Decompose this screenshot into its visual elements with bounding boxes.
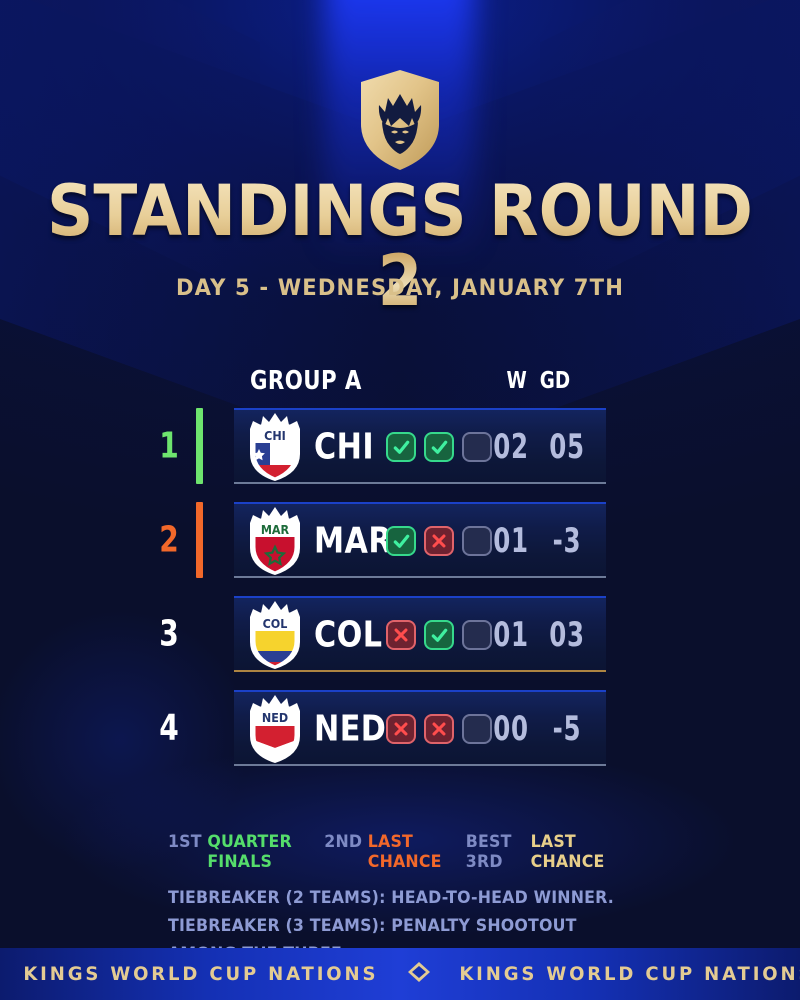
stat-wins: 01 [492, 615, 531, 655]
result-loss-icon [386, 714, 416, 744]
match-results [386, 620, 492, 650]
page: STANDINGS ROUND 2 DAY 5 - WEDNESDAY, JAN… [0, 0, 800, 1000]
rank-number: 3 [159, 614, 179, 655]
table-header: GROUP A W GD [186, 366, 606, 400]
column-header-wins: W [507, 368, 527, 394]
banner-track: KINGS WORLD CUP NATIONSKINGS WORLD CUP N… [0, 961, 800, 988]
legend-first-place: 1ST QUARTER FINALS [168, 832, 300, 872]
match-results [386, 714, 492, 744]
rank-number: 1 [159, 426, 179, 467]
legend-first-key: 1ST [168, 832, 202, 852]
legend-second-value: LAST CHANCE [368, 832, 442, 872]
row-body: MARMAR01-3 [234, 502, 606, 578]
legend-second-place: 2ND LAST CHANCE [324, 832, 441, 872]
rank-accent-bar [196, 408, 203, 484]
rank-number: 2 [159, 520, 179, 561]
row-body: CHICHI0205 [234, 408, 606, 484]
legend-second-key: 2ND [324, 832, 362, 852]
stat-goal-difference: -5 [545, 709, 590, 749]
rank-accent-bar [196, 502, 203, 578]
row-body: NEDNED00-5 [234, 690, 606, 766]
table-row[interactable]: 1CHICHI0205 [186, 408, 606, 484]
match-results [386, 432, 492, 462]
result-loss-icon [386, 620, 416, 650]
team-code: CHI [314, 427, 374, 468]
rank-number: 4 [159, 708, 179, 749]
legend-qualification-row: 1ST QUARTER FINALS 2ND LAST CHANCE BEST … [168, 832, 614, 872]
kings-crest-icon [357, 68, 443, 172]
stat-wins: 02 [492, 427, 531, 467]
result-empty-slot [462, 432, 492, 462]
team-code: COL [314, 615, 382, 656]
stat-wins: 01 [492, 521, 531, 561]
result-empty-slot [462, 620, 492, 650]
column-header-goal-difference: GD [540, 368, 570, 394]
stat-goal-difference: -3 [545, 521, 590, 561]
svg-text:NED: NED [262, 711, 288, 725]
row-body: COLCOL0103 [234, 596, 606, 672]
result-empty-slot [462, 714, 492, 744]
netherlands-crest-icon: NED [248, 695, 302, 763]
match-results [386, 526, 492, 556]
result-empty-slot [462, 526, 492, 556]
result-win-icon [424, 432, 454, 462]
result-win-icon [386, 432, 416, 462]
tiebreaker-two-teams: TIEBREAKER (2 TEAMS): HEAD-TO-HEAD WINNE… [168, 884, 614, 912]
page-subtitle: DAY 5 - WEDNESDAY, JANUARY 7TH [16, 276, 784, 301]
table-row[interactable]: 3COLCOL0103 [186, 596, 606, 672]
chile-crest-icon: CHI [248, 413, 302, 481]
stat-wins: 00 [492, 709, 531, 749]
banner-text: KINGS WORLD CUP NATIONS [23, 963, 378, 985]
table-row[interactable]: 4NEDNED00-5 [186, 690, 606, 766]
legend-best-third-key: BEST 3RD [466, 832, 525, 872]
bottom-banner: KINGS WORLD CUP NATIONSKINGS WORLD CUP N… [0, 948, 800, 1000]
table-body: 1CHICHI02052MARMAR01-33COLCOL01034NEDNED… [186, 408, 606, 766]
banner-text: KINGS WORLD CUP NATIONS [459, 963, 800, 985]
colombia-crest-icon: COL [248, 601, 302, 669]
standings-table: GROUP A W GD 1CHICHI02052MARMAR01-33COLC… [186, 366, 606, 784]
result-win-icon [386, 526, 416, 556]
team-code: NED [314, 709, 386, 750]
result-loss-icon [424, 714, 454, 744]
result-win-icon [424, 620, 454, 650]
svg-text:COL: COL [263, 617, 288, 631]
table-row[interactable]: 2MARMAR01-3 [186, 502, 606, 578]
kings-diamond-icon [406, 961, 432, 988]
group-label: GROUP A [250, 366, 362, 396]
legend-best-third-value: LAST CHANCE [531, 832, 615, 872]
stat-goal-difference: 03 [545, 615, 590, 655]
legend-first-value: QUARTER FINALS [207, 832, 300, 872]
legend-best-third: BEST 3RD LAST CHANCE [466, 832, 615, 872]
result-loss-icon [424, 526, 454, 556]
svg-text:MAR: MAR [261, 523, 289, 537]
team-code: MAR [314, 521, 392, 562]
stat-goal-difference: 05 [545, 427, 590, 467]
morocco-crest-icon: MAR [248, 507, 302, 575]
svg-text:CHI: CHI [264, 429, 286, 443]
